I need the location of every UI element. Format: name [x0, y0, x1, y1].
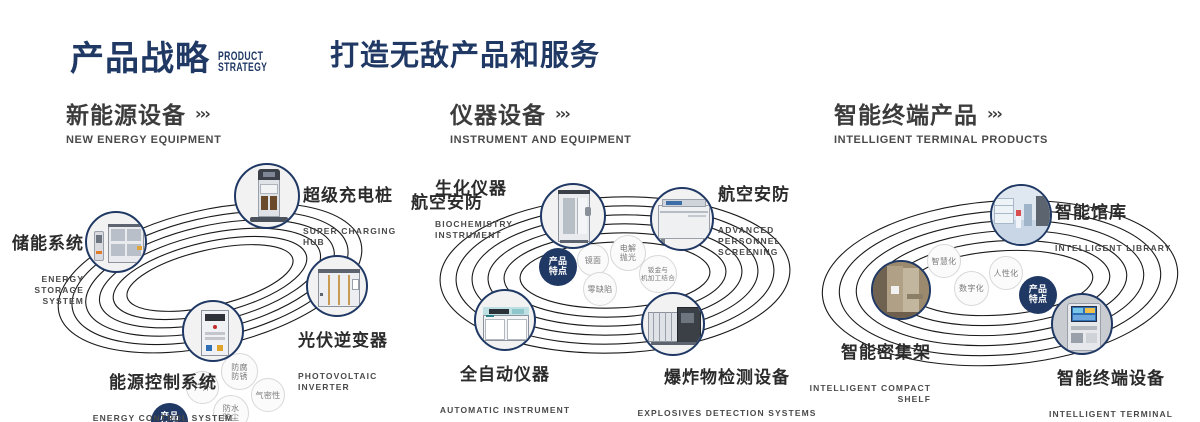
smart-library-icon: [992, 186, 1050, 244]
node-compact-shelf[interactable]: [871, 260, 931, 320]
label-compact-shelf: 智能密集架 INTELLIGENT COMPACT SHELF: [800, 325, 931, 422]
label-energy-control: 能源控制系统 ENERGY CONTROL SYSTEM: [88, 355, 238, 422]
feature-bubble: 人性化: [989, 256, 1023, 290]
node-energy-control[interactable]: [182, 300, 244, 362]
page-title-en: PRODUCT STRATEGY: [218, 51, 267, 73]
label-en: INTELLIGENT COMPACT SHELF: [800, 383, 931, 405]
label-cn: 航空安防: [411, 193, 501, 213]
label-en: INTELLIGENT TERMINAL EQUIPMENT: [1022, 409, 1200, 422]
label-energy-storage: 储能系统 ENERGY STORAGE SYSTEM: [0, 216, 84, 325]
node-biochemistry[interactable]: [540, 183, 606, 249]
label-aviation-security: 航空安防: [411, 175, 501, 231]
feature-bubble: 气密性: [251, 378, 285, 412]
section-label: 智能终端产品: [834, 96, 978, 130]
page-subtitle: 打造无敌产品和服务: [330, 32, 600, 74]
label-en: INTELLIGENT LIBRARY: [1055, 243, 1185, 254]
node-automatic-instrument[interactable]: [474, 289, 536, 351]
feature-bubble: 镜面: [577, 244, 609, 276]
section-title-cn: 新能源设备 ›››: [66, 96, 221, 130]
section-title-en: NEW ENERGY EQUIPMENT: [66, 134, 221, 146]
section-label: 新能源设备: [66, 96, 186, 130]
explosives-detector-icon: [643, 294, 703, 354]
label-en: EXPLOSIVES DETECTION SYSTEMS: [632, 408, 822, 419]
node-pv-inverter[interactable]: [306, 255, 368, 317]
chevron-right-icon: ›››: [987, 104, 1001, 123]
product-strategy-infographic: 产品战略 PRODUCT STRATEGY 打造无敌产品和服务 新能源设备 ››…: [0, 0, 1200, 422]
energy-storage-cabinet-icon: [87, 213, 145, 271]
feature-bubble: 钣金与 机加工结合: [639, 255, 677, 293]
label-en: AUTOMATIC INSTRUMENT: [430, 405, 580, 416]
node-smart-terminal[interactable]: [1051, 293, 1113, 355]
node-personnel-screening[interactable]: [650, 187, 714, 251]
pv-inverter-cabinet-icon: [308, 257, 366, 315]
section-title-en: INSTRUMENT AND EQUIPMENT: [450, 134, 631, 146]
node-explosives-detector[interactable]: [641, 292, 705, 356]
label-automatic-instrument: 全自动仪器 AUTOMATIC INSTRUMENT: [430, 347, 580, 422]
chevron-right-icon: ›››: [555, 104, 569, 123]
label-cn: 能源控制系统: [88, 373, 238, 393]
node-energy-storage[interactable]: [85, 211, 147, 273]
automatic-analyzer-icon: [476, 291, 534, 349]
label-cn: 智能密集架: [800, 343, 931, 363]
section-title-cn: 仪器设备 ›››: [450, 96, 631, 130]
chevron-right-icon: ›››: [195, 104, 209, 123]
section-heading-instrument: 仪器设备 ››› INSTRUMENT AND EQUIPMENT: [450, 96, 631, 146]
page-header: 产品战略 PRODUCT STRATEGY: [70, 24, 286, 76]
label-cn: 储能系统: [0, 234, 84, 254]
core-bubble: 产品 特点: [1019, 276, 1057, 314]
node-charging-hub[interactable]: [234, 163, 300, 229]
screening-machine-icon: [652, 189, 712, 249]
section-label: 仪器设备: [450, 96, 546, 130]
page-title-cn: 产品战略: [70, 42, 210, 76]
section-title-cn: 智能终端产品 ›››: [834, 96, 1048, 130]
feature-bubble: 零缺陷: [583, 272, 617, 306]
feature-bubble: 数字化: [954, 271, 989, 306]
cluster-instrument: 产品 特点 镜面 电解 抛光 零缺陷 钣金与 机加工结合 生化仪器 BIOCHE…: [400, 155, 820, 395]
label-cn: 全自动仪器: [430, 365, 580, 385]
label-smart-library: 智能馆库 INTELLIGENT LIBRARY: [1055, 185, 1185, 272]
label-en: ENERGY STORAGE SYSTEM: [0, 274, 84, 307]
smart-kiosk-icon: [1053, 295, 1111, 353]
cluster-new-energy: 产品 特点 户外 防腐 防锈 防水 防尘 气密性 储能系统 ENERGY STO…: [0, 150, 420, 400]
compact-shelving-icon: [873, 262, 929, 318]
core-bubble: 产品 特点: [539, 248, 577, 286]
section-heading-new-energy: 新能源设备 ››› NEW ENERGY EQUIPMENT: [66, 96, 221, 146]
charging-pile-icon: [236, 165, 298, 227]
label-cn: 智能馆库: [1055, 203, 1185, 223]
node-smart-library[interactable]: [990, 184, 1052, 246]
control-cabinet-icon: [184, 302, 242, 360]
cluster-intelligent-terminal: 智慧化 数字化 人性化 产品 特点 智能馆库 INTELLIGENT LIBRA…: [800, 165, 1200, 395]
feature-bubble: 智慧化: [927, 244, 961, 278]
section-title-en: INTELLIGENT TERMINAL PRODUCTS: [834, 134, 1048, 146]
label-cn: 爆炸物检测设备: [632, 368, 822, 388]
label-explosives-detector: 爆炸物检测设备 EXPLOSIVES DETECTION SYSTEMS: [632, 350, 822, 422]
label-smart-terminal: 智能终端设备 INTELLIGENT TERMINAL EQUIPMENT: [1022, 351, 1200, 422]
label-en: ENERGY CONTROL SYSTEM: [88, 413, 238, 422]
section-heading-terminal: 智能终端产品 ››› INTELLIGENT TERMINAL PRODUCTS: [834, 96, 1048, 146]
biochemistry-scanner-icon: [542, 185, 604, 247]
label-cn: 智能终端设备: [1022, 369, 1200, 389]
